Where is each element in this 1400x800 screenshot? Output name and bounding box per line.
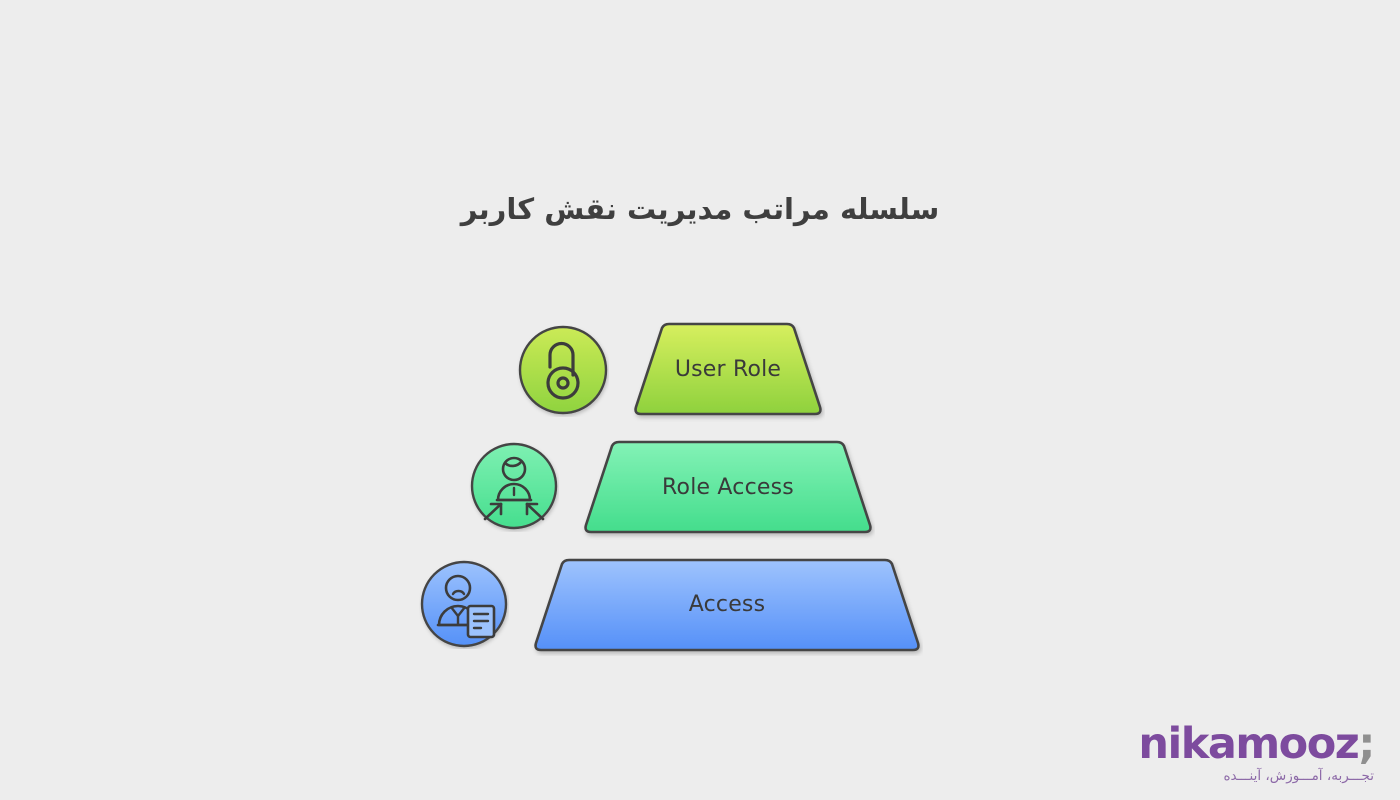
tier-user-role[interactable]: User Role (631, 322, 825, 416)
logo-tagline: تجـــربه، آمـــوزش، آینـــده (1138, 768, 1374, 784)
badge-access[interactable] (419, 559, 509, 649)
logo-wordmark: nikamooz; (1138, 722, 1374, 766)
unlock-icon[interactable] (517, 325, 609, 417)
nikamooz-logo: nikamooz; تجـــربه، آمـــوزش، آینـــده (1138, 722, 1374, 784)
badge-role-access[interactable] (469, 442, 559, 532)
diagram-canvas: سلسله مراتب مدیریت نقش کاربر User Role (0, 0, 1400, 800)
tier-role-access-shape[interactable] (581, 440, 875, 540)
tier-access-shape[interactable] (531, 558, 923, 656)
logo-accent: ; (1358, 719, 1374, 769)
user-arrows-icon[interactable] (469, 442, 559, 532)
tier-role-access[interactable]: Role Access (581, 440, 875, 534)
logo-name: nikamooz (1138, 719, 1358, 769)
tier-user-role-shape[interactable] (631, 322, 825, 422)
badge-user-role[interactable] (517, 325, 609, 417)
pyramid-diagram: User Role (0, 0, 1400, 800)
user-document-icon[interactable] (419, 559, 509, 649)
tier-access[interactable]: Access (531, 558, 923, 650)
